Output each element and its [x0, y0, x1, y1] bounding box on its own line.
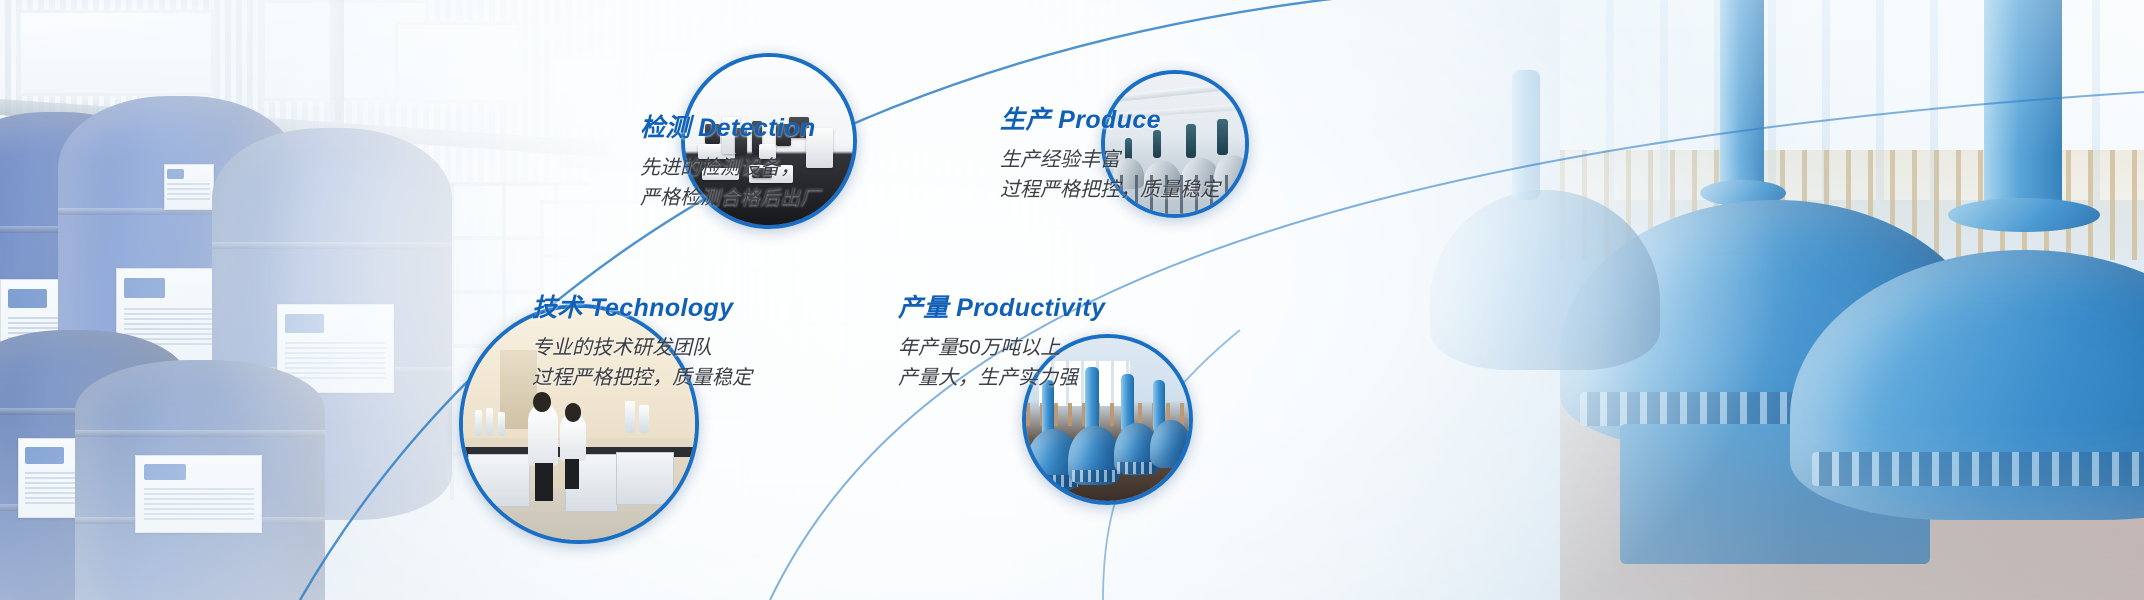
- productivity-title: 产量 Productivity: [898, 288, 1105, 324]
- feature-technology: 技术 Technology 专业的技术研发团队 过程严格把控，质量稳定: [532, 288, 752, 394]
- produce-title: 生产 Produce: [1000, 100, 1220, 136]
- technology-line-2: 过程严格把控，质量稳定: [532, 363, 752, 393]
- produce-line-1: 生产经验丰富: [1000, 145, 1220, 175]
- technology-line-1: 专业的技术研发团队: [532, 333, 752, 363]
- feature-productivity: 产量 Productivity 年产量50万吨以上 产量大，生产实力强: [898, 288, 1105, 394]
- technology-title: 技术 Technology: [532, 288, 752, 324]
- company-strength-banner: 检测 Detection 先进的检测设备， 严格检测合格后出厂 生产 Produ…: [0, 0, 2144, 600]
- feature-produce: 生产 Produce 生产经验丰富 过程严格把控，质量稳定: [1000, 100, 1220, 206]
- productivity-line-1: 年产量50万吨以上: [898, 333, 1105, 363]
- detection-line-1: 先进的检测设备，: [640, 153, 820, 183]
- productivity-line-2: 产量大，生产实力强: [898, 363, 1105, 393]
- detection-title: 检测 Detection: [640, 108, 820, 144]
- produce-line-2: 过程严格把控，质量稳定: [1000, 175, 1220, 205]
- detection-line-2: 严格检测合格后出厂: [640, 183, 820, 213]
- feature-detection: 检测 Detection 先进的检测设备， 严格检测合格后出厂: [640, 108, 820, 214]
